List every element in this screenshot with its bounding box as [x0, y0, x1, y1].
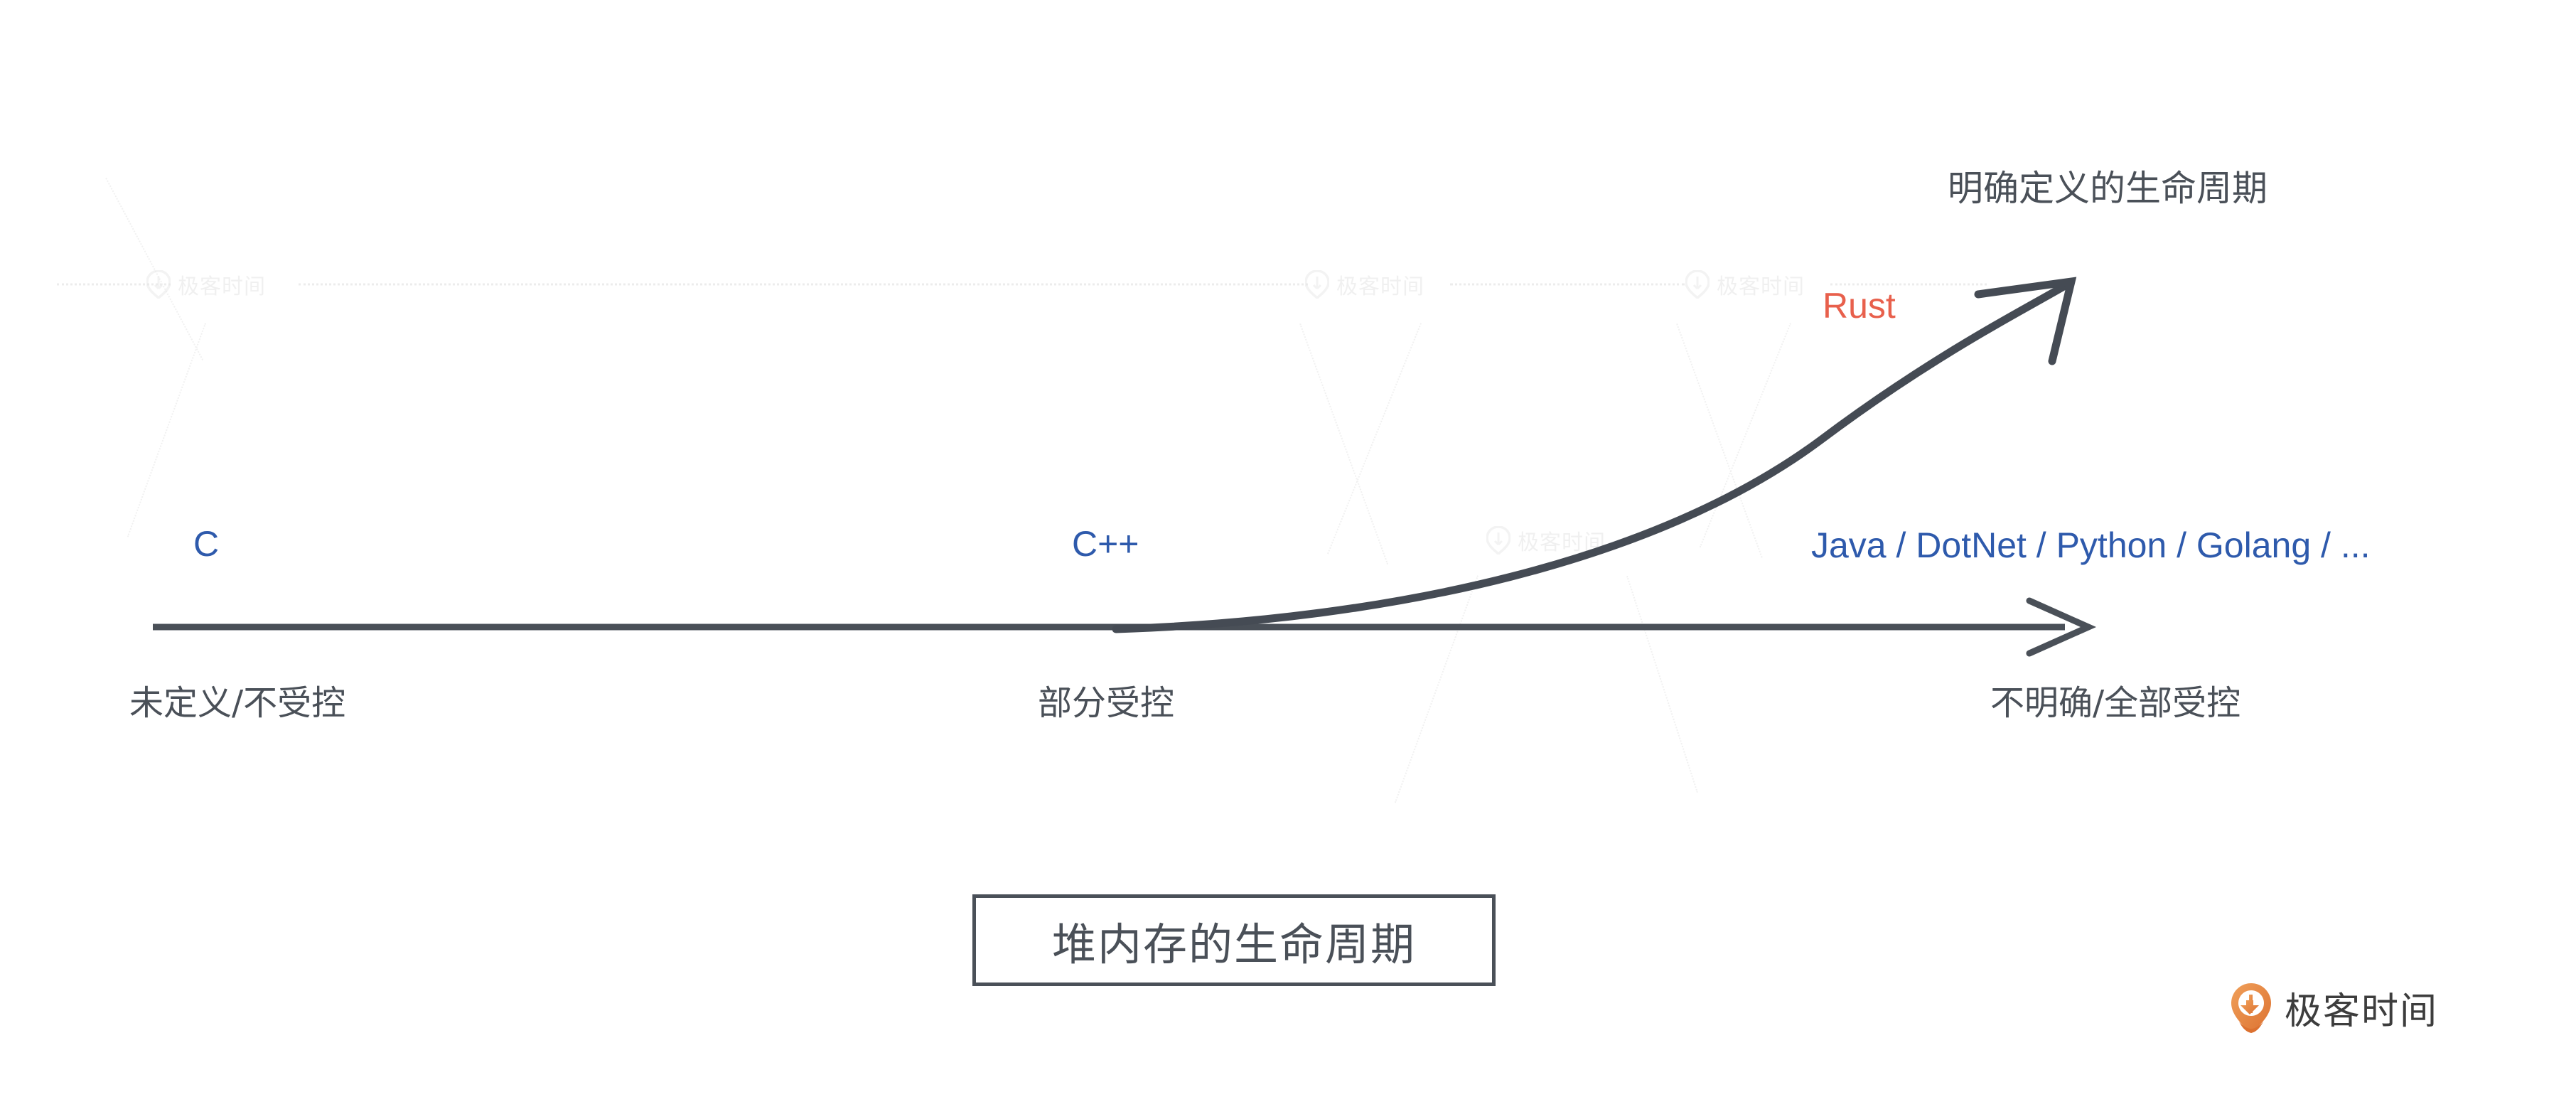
- axis-label-middle: 部分受控: [1038, 686, 1174, 720]
- caption-box: 堆内存的生命周期: [972, 894, 1496, 986]
- language-label-rust: Rust: [1823, 288, 1896, 323]
- diagram-canvas: 极客时间 极客时间 极客时间 极客时间: [0, 0, 2576, 1119]
- language-label-cpp: C++: [1072, 526, 1139, 562]
- top-note-defined-lifetime: 明确定义的生命周期: [1948, 171, 2268, 206]
- geektime-pin-icon: [2229, 982, 2273, 1034]
- axis-label-end: 不明确/全部受控: [1990, 686, 2240, 720]
- rust-growth-curve: [1116, 283, 2070, 629]
- axis-label-start: 未定义/不受控: [129, 686, 345, 720]
- caption-text: 堆内存的生命周期: [1052, 909, 1416, 973]
- language-label-managed-runtimes: Java / DotNet / Python / Golang / ...: [1811, 528, 2371, 563]
- language-label-c: C: [193, 526, 219, 562]
- brand-wordmark: 极客时间: [2285, 981, 2438, 1034]
- brand-logo: 极客时间: [2229, 981, 2438, 1034]
